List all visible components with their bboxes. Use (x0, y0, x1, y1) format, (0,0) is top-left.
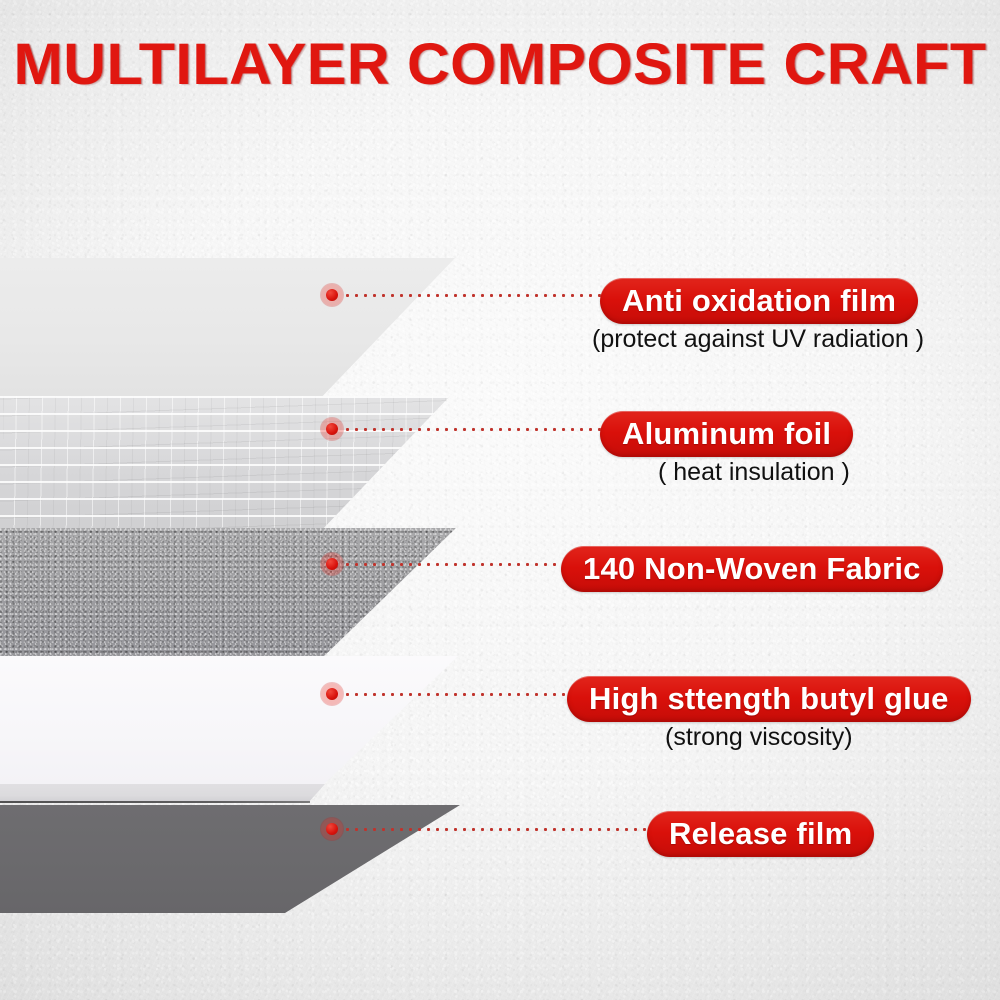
label-sublabel-butyl-glue: (strong viscosity) (665, 723, 853, 752)
label-pill-aluminum-foil[interactable]: Aluminum foil (600, 411, 853, 457)
callout-dot-butyl-glue[interactable] (321, 683, 343, 705)
infographic-canvas: MULTILAYER COMPOSITE CRAFT Ant (0, 0, 1000, 1000)
layer-underline-butyl-glue (0, 801, 310, 803)
layer-slab-non-woven-fabric[interactable] (0, 528, 470, 660)
label-pill-non-woven-fabric[interactable]: 140 Non-Woven Fabric (561, 546, 943, 592)
callout-leader-anti-oxidation-film (343, 294, 601, 297)
callout-dot-non-woven-fabric[interactable] (321, 553, 343, 575)
layer-slab-release-film[interactable] (0, 805, 480, 913)
label-sublabel-aluminum-foil: ( heat insulation ) (658, 458, 850, 487)
callout-dot-core-3 (326, 558, 338, 570)
callout-leader-non-woven-fabric (343, 563, 565, 566)
callout-leader-butyl-glue (343, 693, 571, 696)
callout-leader-aluminum-foil (343, 428, 603, 431)
callout-dot-anti-oxidation-film[interactable] (321, 284, 343, 306)
layer-slab-anti-oxidation-film[interactable] (0, 258, 470, 404)
callout-dot-core-5 (326, 823, 338, 835)
layer-slab-butyl-glue[interactable] (0, 656, 470, 786)
callout-dot-core-2 (326, 423, 338, 435)
callout-dot-aluminum-foil[interactable] (321, 418, 343, 440)
label-pill-release-film[interactable]: Release film (647, 811, 874, 857)
callout-dot-core-4 (326, 688, 338, 700)
callout-dot-core-1 (326, 289, 338, 301)
layer-slab-aluminum-foil[interactable] (0, 396, 470, 532)
label-sublabel-anti-oxidation-film: (protect against UV radiation ) (592, 325, 924, 354)
callout-leader-release-film (343, 828, 649, 831)
callout-dot-release-film[interactable] (321, 818, 343, 840)
label-pill-butyl-glue[interactable]: High sttength butyl glue (567, 676, 971, 722)
label-pill-anti-oxidation-film[interactable]: Anti oxidation film (600, 278, 918, 324)
